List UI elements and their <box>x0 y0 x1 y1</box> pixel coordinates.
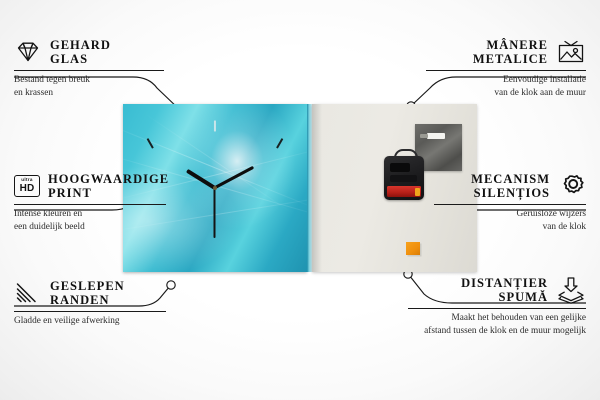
mechanism-slot <box>390 163 410 172</box>
picture-frame-hanger-icon <box>556 39 586 65</box>
clock-tick <box>147 138 154 149</box>
callout-title-line-1: MÂNERE <box>486 38 548 52</box>
callout-title-line-1: DISTANȚIER <box>461 276 548 290</box>
product-photo <box>123 104 477 272</box>
callout-header: MÂNERE METALICE <box>426 38 586 66</box>
callout-rule <box>434 204 586 205</box>
metal-plate-hole <box>427 133 445 139</box>
callout-subtitle: Bestand tegen breuk en krassen <box>14 74 164 100</box>
metal-plate-hole-secondary <box>420 134 428 138</box>
clock-mechanism <box>384 156 424 200</box>
callout-titles: HOOGWAARDIGE PRINT <box>48 172 169 200</box>
callout-title-line-1: HOOGWAARDIGE <box>48 172 169 186</box>
callout-titles: GEHARD GLAS <box>50 38 111 66</box>
connector-dot-geslepen-randen <box>167 281 175 289</box>
clock-hour-hand <box>186 169 216 190</box>
callout-rule <box>426 70 586 71</box>
beveled-edge-icon <box>14 281 42 305</box>
ultra-hd-icon: ultra HD <box>14 175 40 197</box>
ultra-hd-icon-large-text: HD <box>20 184 35 194</box>
callout-header: GEHARD GLAS <box>14 38 164 66</box>
callout-title-line-2: PRINT <box>48 186 169 200</box>
callout-header: DISTANȚIER SPUMĂ <box>408 276 586 304</box>
callout-hoogwaardige-print: ultra HD HOOGWAARDIGE PRINT Intense kleu… <box>14 172 166 234</box>
mechanism-slot-secondary <box>390 175 417 182</box>
callout-subtitle: Gladde en veilige afwerking <box>14 315 166 328</box>
clock-second-hand <box>214 188 216 238</box>
callout-subtitle: Geruisloze wijzers van de klok <box>434 208 586 234</box>
gear-icon <box>558 173 586 199</box>
callout-rule <box>408 308 586 309</box>
foam-spacer <box>406 242 420 255</box>
callout-title-line-1: MECANISM <box>471 172 550 186</box>
callout-title-line-2: RANDEN <box>50 293 125 307</box>
arrow-into-layers-icon <box>556 276 586 304</box>
callout-titles: DISTANȚIER SPUMĂ <box>461 276 548 304</box>
callout-gehard-glas: GEHARD GLAS Bestand tegen breuk en krass… <box>14 38 164 100</box>
callout-rule <box>14 70 164 71</box>
callout-rule <box>14 204 166 205</box>
clock-battery <box>387 186 421 197</box>
callout-titles: MÂNERE METALICE <box>473 38 548 66</box>
callout-rule <box>14 311 166 312</box>
callout-mecanism-silentios: MECANISM SILENȚIOS Geruisloze wijzers va… <box>434 172 586 234</box>
callout-subtitle: Maakt het behouden van een gelijke afsta… <box>408 312 586 338</box>
callout-header: GESLEPEN RANDEN <box>14 279 166 307</box>
back-panel-shadow <box>312 104 322 272</box>
callout-subtitle: Intense kleuren en een duidelijk beeld <box>14 208 166 234</box>
callout-titles: MECANISM SILENȚIOS <box>471 172 550 200</box>
callout-title-line-1: GEHARD <box>50 38 111 52</box>
clock-center-cap <box>213 186 217 190</box>
callout-title-line-2: GLAS <box>50 52 111 66</box>
callout-title-line-2: METALICE <box>473 52 548 66</box>
callout-title-line-2: SILENȚIOS <box>474 186 550 200</box>
callout-distantier-spuma: DISTANȚIER SPUMĂ Maakt het behouden van … <box>408 276 586 338</box>
callout-header: ultra HD HOOGWAARDIGE PRINT <box>14 172 166 200</box>
product-infographic: GEHARD GLAS Bestand tegen breuk en krass… <box>0 0 600 400</box>
callout-subtitle: Eenvoudige installatie van de klok aan d… <box>426 74 586 100</box>
callout-title-line-2: SPUMĂ <box>499 290 548 304</box>
callout-title-line-1: GESLEPEN <box>50 279 125 293</box>
callout-header: MECANISM SILENȚIOS <box>434 172 586 200</box>
clock-tick <box>276 138 283 149</box>
clock-tick <box>214 121 216 132</box>
clock-minute-hand <box>214 166 254 190</box>
diamond-icon <box>14 40 42 64</box>
callout-geslepen-randen: GESLEPEN RANDEN Gladde en veilige afwerk… <box>14 279 166 328</box>
battery-terminal <box>415 188 420 196</box>
callout-manere-metalice: MÂNERE METALICE Eenvoudige installatie v… <box>426 38 586 100</box>
callout-titles: GESLEPEN RANDEN <box>50 279 125 307</box>
